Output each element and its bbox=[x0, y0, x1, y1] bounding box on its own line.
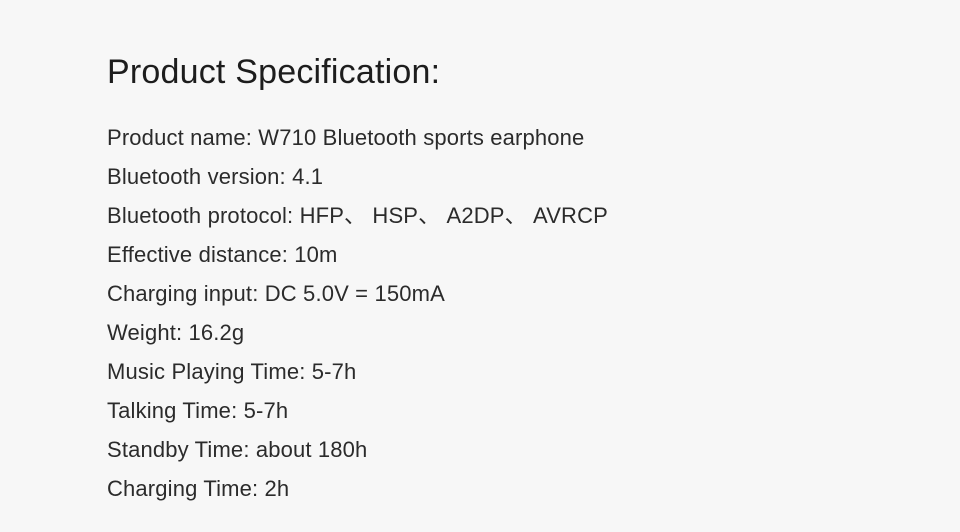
spec-row-music-playing-time: Music Playing Time: 5-7h bbox=[107, 352, 887, 391]
spec-row-bluetooth-version: Bluetooth version: 4.1 bbox=[107, 157, 887, 196]
spec-row-talking-time: Talking Time: 5-7h bbox=[107, 391, 887, 430]
product-specification-page: Product Specification: Product name: W71… bbox=[0, 0, 960, 532]
spec-row-effective-distance: Effective distance: 10m bbox=[107, 235, 887, 274]
spec-row-charging-time: Charging Time: 2h bbox=[107, 469, 887, 508]
spec-row-weight: Weight: 16.2g bbox=[107, 313, 887, 352]
specification-list: Product name: W710 Bluetooth sports earp… bbox=[107, 118, 887, 508]
spec-row-bluetooth-protocol: Bluetooth protocol: HFP、 HSP、 A2DP、 AVRC… bbox=[107, 196, 887, 235]
spec-row-standby-time: Standby Time: about 180h bbox=[107, 430, 887, 469]
page-title: Product Specification: bbox=[107, 52, 440, 92]
spec-row-product-name: Product name: W710 Bluetooth sports earp… bbox=[107, 118, 887, 157]
spec-row-charging-input: Charging input: DC 5.0V = 150mA bbox=[107, 274, 887, 313]
